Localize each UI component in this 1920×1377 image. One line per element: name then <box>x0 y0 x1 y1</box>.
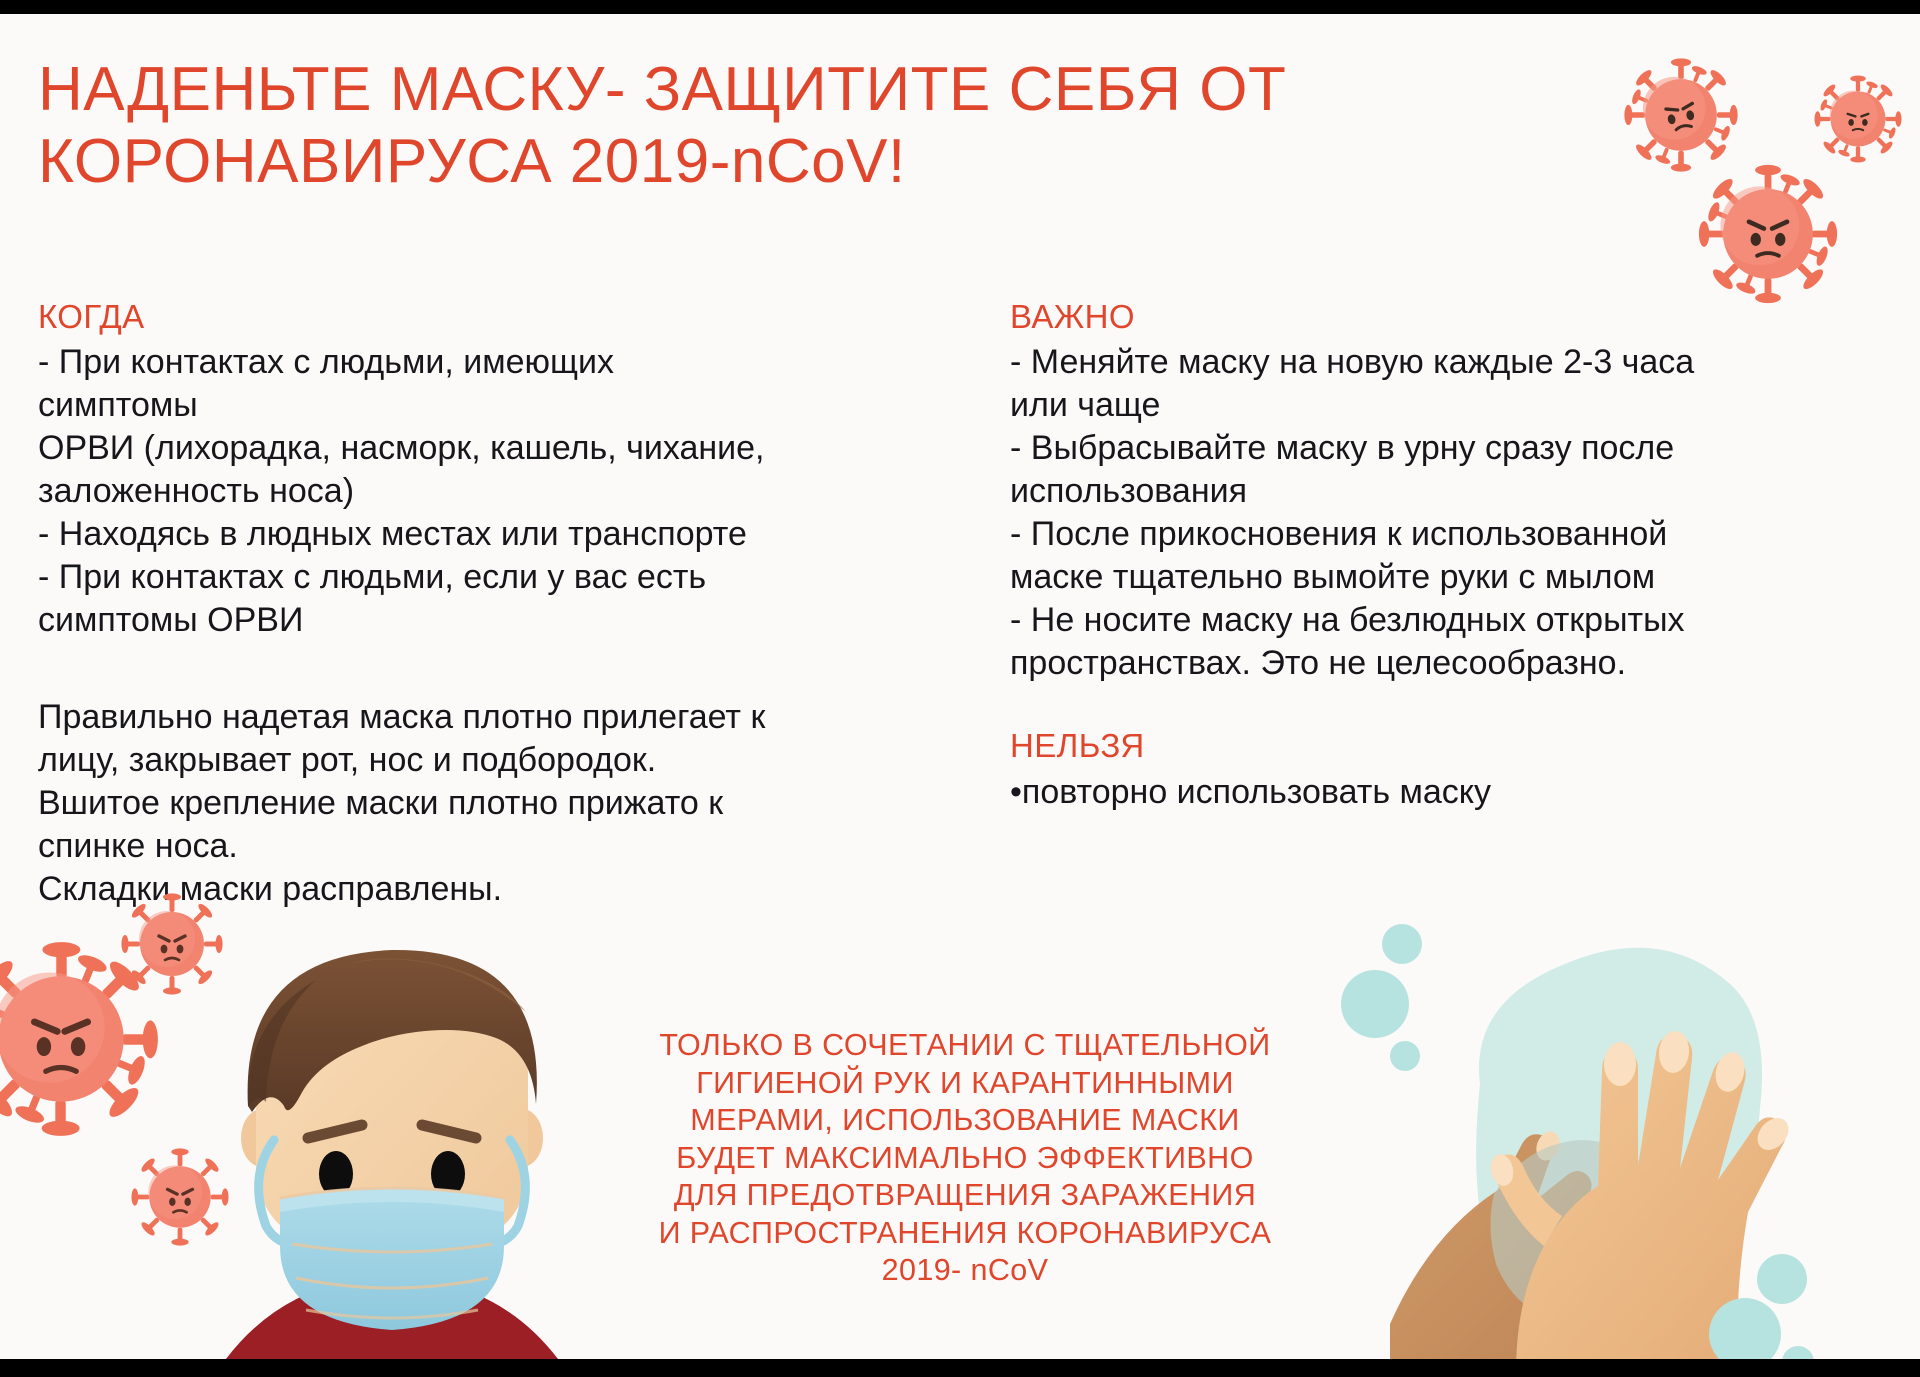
section-heading-forbidden: НЕЛЬЗЯ <box>1010 725 1875 766</box>
virus-icon-top-right-3 <box>1700 166 1836 302</box>
spacer <box>1010 685 1875 725</box>
bubble <box>1782 1346 1814 1373</box>
left-column: КОГДА - При контактах с людьми, имеющих … <box>38 296 783 911</box>
virus-icon-top-right-2 <box>1815 76 1901 162</box>
caption-text: ТОЛЬКО В СОЧЕТАНИИ С ТЩАТЕЛЬНОЙ ГИГИЕНОЙ… <box>600 1027 1330 1290</box>
virus-icon-top-right-1 <box>1625 59 1737 171</box>
bubble <box>1341 970 1409 1038</box>
boy-with-mask-illustration <box>196 926 586 1373</box>
infographic-poster: НАДЕНЬТЕ МАСКУ- ЗАЩИТИТЕ СЕБЯ ОТ КОРОНАВ… <box>0 0 1920 1377</box>
section-heading-important: ВАЖНО <box>1010 296 1875 337</box>
bubble <box>1390 1041 1420 1071</box>
mask-fit-paragraph: Правильно надетая маска плотно прилегает… <box>38 696 783 911</box>
bubble <box>1382 924 1422 964</box>
page-title: НАДЕНЬТЕ МАСКУ- ЗАЩИТИТЕ СЕБЯ ОТ КОРОНАВ… <box>38 54 1598 198</box>
bubble <box>1709 1298 1781 1370</box>
right-column: ВАЖНО - Меняйте маску на новую каждые 2-… <box>1010 296 1875 814</box>
important-list: - Меняйте маску на новую каждые 2-3 часа… <box>1010 341 1875 685</box>
forbidden-list: •повторно использовать маску <box>1010 771 1875 814</box>
when-list: - При контактах с людьми, имеющих симпто… <box>38 341 783 642</box>
section-heading-when: КОГДА <box>38 296 783 337</box>
bubble <box>1757 1254 1807 1304</box>
handwashing-illustration <box>1330 894 1920 1373</box>
spacer <box>38 642 783 696</box>
